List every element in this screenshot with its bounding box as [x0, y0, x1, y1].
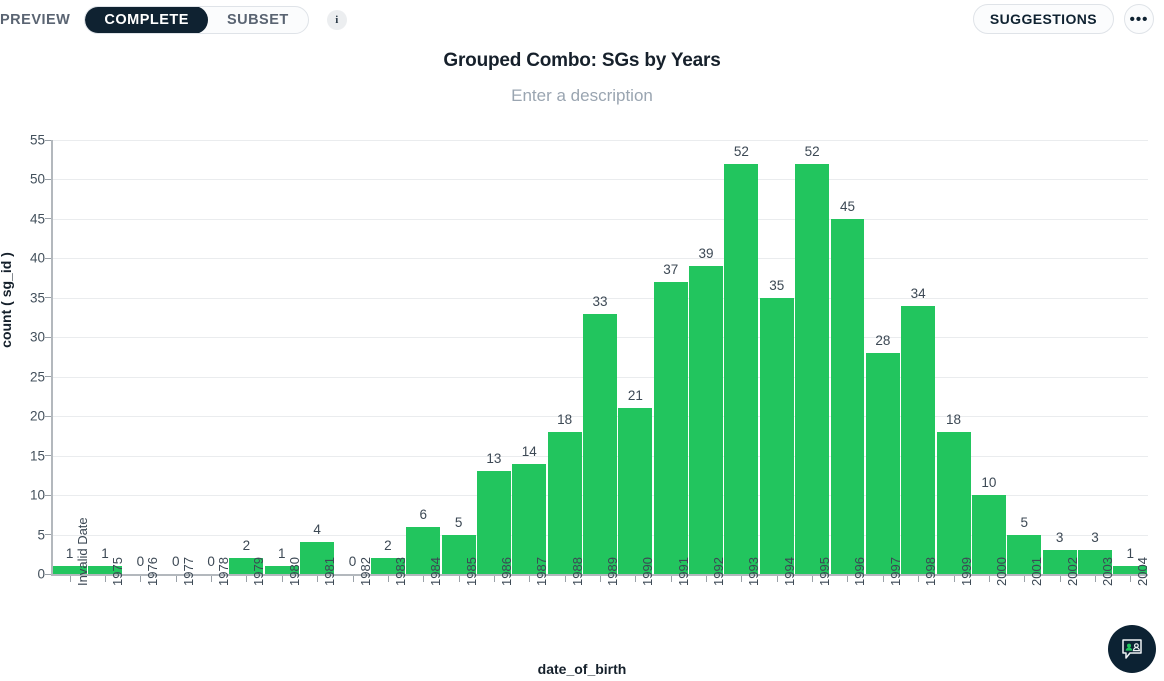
x-tick-mark [1130, 576, 1131, 582]
x-tick-mark [211, 576, 212, 582]
x-tick-mark [741, 576, 742, 582]
x-tick-label: 1982 [358, 557, 373, 586]
x-tick-mark [529, 576, 530, 582]
x-tick-label: 2000 [994, 557, 1009, 586]
x-tick-mark [70, 576, 71, 582]
x-tick-label: 2001 [1029, 557, 1044, 586]
x-tick-label: 1998 [923, 557, 938, 586]
x-tick-label: 1996 [852, 557, 867, 586]
gridline [52, 258, 1148, 259]
y-tick-mark [45, 297, 51, 298]
x-tick-mark [459, 576, 460, 582]
bar[interactable] [654, 282, 688, 574]
x-tick-mark [1024, 576, 1025, 582]
x-tick-mark [282, 576, 283, 582]
x-tick-label: 1980 [287, 557, 302, 586]
x-tick-label: 1985 [464, 557, 479, 586]
bar[interactable] [972, 495, 1006, 574]
chart-page: PREVIEW COMPLETE SUBSET i SUGGESTIONS ••… [0, 0, 1164, 681]
x-tick-mark [353, 576, 354, 582]
y-tick-mark [45, 416, 51, 417]
gridline [52, 140, 1148, 141]
x-axis-title: date_of_birth [0, 661, 1164, 677]
bar[interactable] [760, 298, 794, 574]
x-tick-mark [140, 576, 141, 582]
x-tick-label: 1992 [711, 557, 726, 586]
bar-value-label: 1 [101, 546, 109, 561]
bar[interactable] [477, 471, 511, 574]
x-tick-label: 1977 [181, 557, 196, 586]
bar-value-label: 18 [557, 412, 572, 427]
y-tick-label: 45 [5, 211, 45, 226]
gridline [52, 456, 1148, 457]
bar-value-label: 1 [66, 546, 74, 561]
tab-complete[interactable]: COMPLETE [85, 6, 208, 34]
toolbar-right-group: SUGGESTIONS ••• [973, 4, 1154, 34]
bar[interactable] [866, 353, 900, 574]
x-tick-label: 1983 [393, 557, 408, 586]
toolbar-left-group: PREVIEW COMPLETE SUBSET i [0, 6, 347, 34]
bar-value-label: 35 [769, 278, 784, 293]
x-tick-mark [635, 576, 636, 582]
x-tick-mark [246, 576, 247, 582]
more-options-button[interactable]: ••• [1124, 4, 1154, 34]
y-tick-label: 25 [5, 369, 45, 384]
gridline [52, 495, 1148, 496]
bar[interactable] [265, 566, 299, 574]
x-tick-label: 1990 [640, 557, 655, 586]
chat-support-icon [1119, 636, 1145, 662]
x-tick-mark [423, 576, 424, 582]
bar-value-label: 3 [1056, 530, 1064, 545]
y-tick-mark [45, 179, 51, 180]
bar-value-label: 14 [522, 444, 537, 459]
y-tick-mark [45, 218, 51, 219]
y-tick-label: 15 [5, 448, 45, 463]
bar-value-label: 10 [981, 475, 996, 490]
info-icon[interactable]: i [327, 10, 347, 30]
bar[interactable] [689, 266, 723, 574]
y-tick-label: 10 [5, 488, 45, 503]
x-tick-mark [671, 576, 672, 582]
bar-value-label: 13 [486, 451, 501, 466]
x-axis-line [51, 574, 1148, 576]
x-tick-mark [989, 576, 990, 582]
y-axis-line [51, 140, 53, 575]
x-tick-mark [1060, 576, 1061, 582]
gridline [52, 416, 1148, 417]
view-mode-segmented-control[interactable]: COMPLETE SUBSET [84, 6, 308, 34]
x-tick-label: 1987 [534, 557, 549, 586]
bar-value-label: 3 [1091, 530, 1099, 545]
x-tick-mark [600, 576, 601, 582]
x-tick-label: 1984 [428, 557, 443, 586]
x-tick-label: 2003 [1100, 557, 1115, 586]
bar-value-label: 1 [1127, 546, 1135, 561]
tab-subset[interactable]: SUBSET [208, 6, 308, 34]
x-tick-label: 1978 [216, 557, 231, 586]
bar-value-label: 4 [313, 522, 321, 537]
bar[interactable] [53, 566, 87, 574]
x-tick-mark [317, 576, 318, 582]
gridline [52, 377, 1148, 378]
bar[interactable] [618, 408, 652, 574]
bar-value-label: 21 [628, 388, 643, 403]
bar-value-label: 28 [875, 333, 890, 348]
y-tick-label: 0 [5, 567, 45, 582]
bar-value-label: 34 [911, 286, 926, 301]
bar[interactable] [1007, 535, 1041, 574]
x-tick-mark [777, 576, 778, 582]
bar-value-label: 52 [734, 144, 749, 159]
bar-value-label: 52 [805, 144, 820, 159]
bar-value-label: 0 [349, 554, 357, 569]
description-placeholder[interactable]: Enter a description [0, 86, 1164, 106]
bar[interactable] [1043, 550, 1077, 574]
x-tick-mark [176, 576, 177, 582]
x-tick-label: Invalid Date [75, 517, 90, 586]
bar-value-label: 0 [137, 554, 145, 569]
bar-value-label: 1 [278, 546, 286, 561]
y-tick-label: 20 [5, 409, 45, 424]
x-tick-mark [565, 576, 566, 582]
chat-support-button[interactable] [1108, 625, 1156, 673]
x-tick-mark [706, 576, 707, 582]
gridline [52, 535, 1148, 536]
bar[interactable] [1113, 566, 1147, 574]
x-tick-label: 1995 [817, 557, 832, 586]
x-tick-mark [883, 576, 884, 582]
x-tick-mark [105, 576, 106, 582]
bar[interactable] [1078, 550, 1112, 574]
bar[interactable] [406, 527, 440, 574]
x-tick-label: 1976 [145, 557, 160, 586]
y-tick-mark [45, 574, 51, 575]
bar[interactable] [88, 566, 122, 574]
x-tick-label: 1997 [888, 557, 903, 586]
bar-value-label: 5 [1020, 515, 1028, 530]
bar-value-label: 45 [840, 199, 855, 214]
gridline [52, 219, 1148, 220]
gridline [52, 337, 1148, 338]
gridline [52, 298, 1148, 299]
y-tick-mark [45, 140, 51, 141]
x-tick-mark [812, 576, 813, 582]
x-tick-label: 2002 [1065, 557, 1080, 586]
x-tick-label: 1999 [959, 557, 974, 586]
y-tick-mark [45, 376, 51, 377]
y-tick-label: 5 [5, 527, 45, 542]
x-tick-label: 1993 [746, 557, 761, 586]
bar-value-label: 39 [699, 246, 714, 261]
x-tick-label: 1975 [110, 557, 125, 586]
bar[interactable] [724, 164, 758, 574]
x-tick-label: 1989 [605, 557, 620, 586]
bar-value-label: 18 [946, 412, 961, 427]
bar[interactable] [371, 558, 405, 574]
x-tick-label: 1991 [676, 557, 691, 586]
x-tick-mark [388, 576, 389, 582]
x-tick-label: 1994 [782, 557, 797, 586]
x-tick-mark [954, 576, 955, 582]
bar[interactable] [901, 306, 935, 574]
y-tick-label: 50 [5, 172, 45, 187]
y-axis-title: count ( sg_id ) [0, 252, 14, 348]
bar[interactable] [795, 164, 829, 574]
bar-value-label: 2 [243, 538, 251, 553]
y-tick-mark [45, 455, 51, 456]
bar-value-label: 37 [663, 262, 678, 277]
page-title: Grouped Combo: SGs by Years [0, 50, 1164, 72]
y-tick-label: 35 [5, 290, 45, 305]
x-tick-mark [918, 576, 919, 582]
x-tick-label: 2004 [1135, 557, 1150, 586]
x-tick-label: 1981 [322, 557, 337, 586]
y-tick-label: 30 [5, 330, 45, 345]
bar[interactable] [300, 542, 334, 574]
bar[interactable] [583, 314, 617, 574]
y-tick-mark [45, 337, 51, 338]
y-tick-mark [45, 258, 51, 259]
x-tick-label: 1979 [251, 557, 266, 586]
bar-value-label: 5 [455, 515, 463, 530]
x-tick-mark [847, 576, 848, 582]
bar[interactable] [442, 535, 476, 574]
top-toolbar: PREVIEW COMPLETE SUBSET i SUGGESTIONS ••… [0, 0, 1164, 40]
y-tick-label: 55 [5, 133, 45, 148]
x-tick-label: 1986 [499, 557, 514, 586]
preview-label: PREVIEW [0, 12, 84, 28]
x-tick-label: 1988 [570, 557, 585, 586]
bar[interactable] [548, 432, 582, 574]
bar[interactable] [831, 219, 865, 574]
suggestions-button[interactable]: SUGGESTIONS [973, 4, 1114, 34]
x-tick-mark [494, 576, 495, 582]
y-tick-label: 40 [5, 251, 45, 266]
gridline [52, 179, 1148, 180]
bar-value-label: 33 [592, 294, 607, 309]
y-tick-mark [45, 495, 51, 496]
bar[interactable] [229, 558, 263, 574]
y-tick-mark [45, 534, 51, 535]
bar[interactable] [937, 432, 971, 574]
x-tick-mark [1095, 576, 1096, 582]
bar-value-label: 0 [172, 554, 180, 569]
bar-value-label: 6 [419, 507, 427, 522]
bar[interactable] [512, 464, 546, 574]
kebab-icon: ••• [1130, 17, 1149, 22]
bar-value-label: 2 [384, 538, 392, 553]
bar-value-label: 0 [207, 554, 215, 569]
